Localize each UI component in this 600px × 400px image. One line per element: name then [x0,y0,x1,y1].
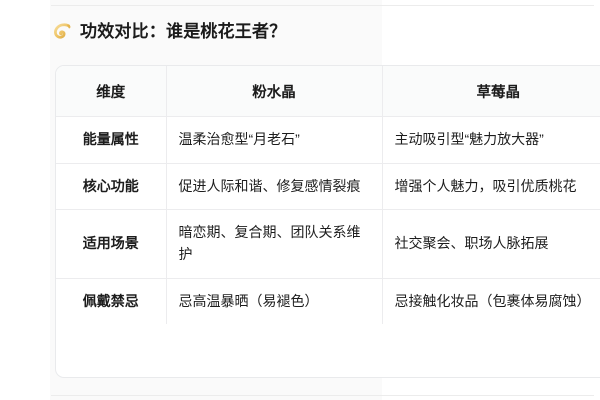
cell-rose-quartz: 暗恋期、复合期、团队关系维护 [166,210,382,278]
page-canvas: 功效对比：谁是桃花王者？ 维度 粉水晶 草莓晶 能量属性 温柔治愈型“月老石” [0,0,600,400]
table-row: 能量属性 温柔治愈型“月老石” 主动吸引型“魅力放大器” [56,117,600,164]
column-header-rose-quartz: 粉水晶 [166,66,382,117]
column-header-dimension: 维度 [56,66,166,117]
bottom-divider [51,395,594,396]
column-header-strawberry-quartz: 草莓晶 [382,66,600,117]
cell-dimension: 核心功能 [56,163,166,210]
cell-dimension: 佩戴禁忌 [56,278,166,324]
cell-rose-quartz: 忌高温暴晒（易褪色） [166,278,382,324]
crescent-moon-icon [52,21,73,42]
cell-strawberry-quartz: 增强个人魅力，吸引优质桃花 [382,163,600,210]
page-title: 功效对比：谁是桃花王者？ [80,21,286,42]
cell-dimension: 能量属性 [56,117,166,164]
cell-strawberry-quartz: 社交聚会、职场人脉拓展 [382,210,600,278]
table-header-row: 维度 粉水晶 草莓晶 [56,66,600,117]
comparison-table: 维度 粉水晶 草莓晶 能量属性 温柔治愈型“月老石” 主动吸引型“魅力放大器” … [56,66,600,324]
top-divider [51,5,594,6]
table-row: 适用场景 暗恋期、复合期、团队关系维护 社交聚会、职场人脉拓展 [56,210,600,278]
cell-strawberry-quartz: 主动吸引型“魅力放大器” [382,117,600,164]
cell-rose-quartz: 温柔治愈型“月老石” [166,117,382,164]
section-heading: 功效对比：谁是桃花王者？ [52,21,286,42]
cell-rose-quartz: 促进人际和谐、修复感情裂痕 [166,163,382,210]
table-row: 核心功能 促进人际和谐、修复感情裂痕 增强个人魅力，吸引优质桃花 [56,163,600,210]
table-header: 维度 粉水晶 草莓晶 [56,66,600,117]
table-row: 佩戴禁忌 忌高温暴晒（易褪色） 忌接触化妆品（包裹体易腐蚀） [56,278,600,324]
table-body: 能量属性 温柔治愈型“月老石” 主动吸引型“魅力放大器” 核心功能 促进人际和谐… [56,117,600,325]
cell-dimension: 适用场景 [56,210,166,278]
cell-strawberry-quartz: 忌接触化妆品（包裹体易腐蚀） [382,278,600,324]
comparison-table-container: 维度 粉水晶 草莓晶 能量属性 温柔治愈型“月老石” 主动吸引型“魅力放大器” … [55,65,600,378]
